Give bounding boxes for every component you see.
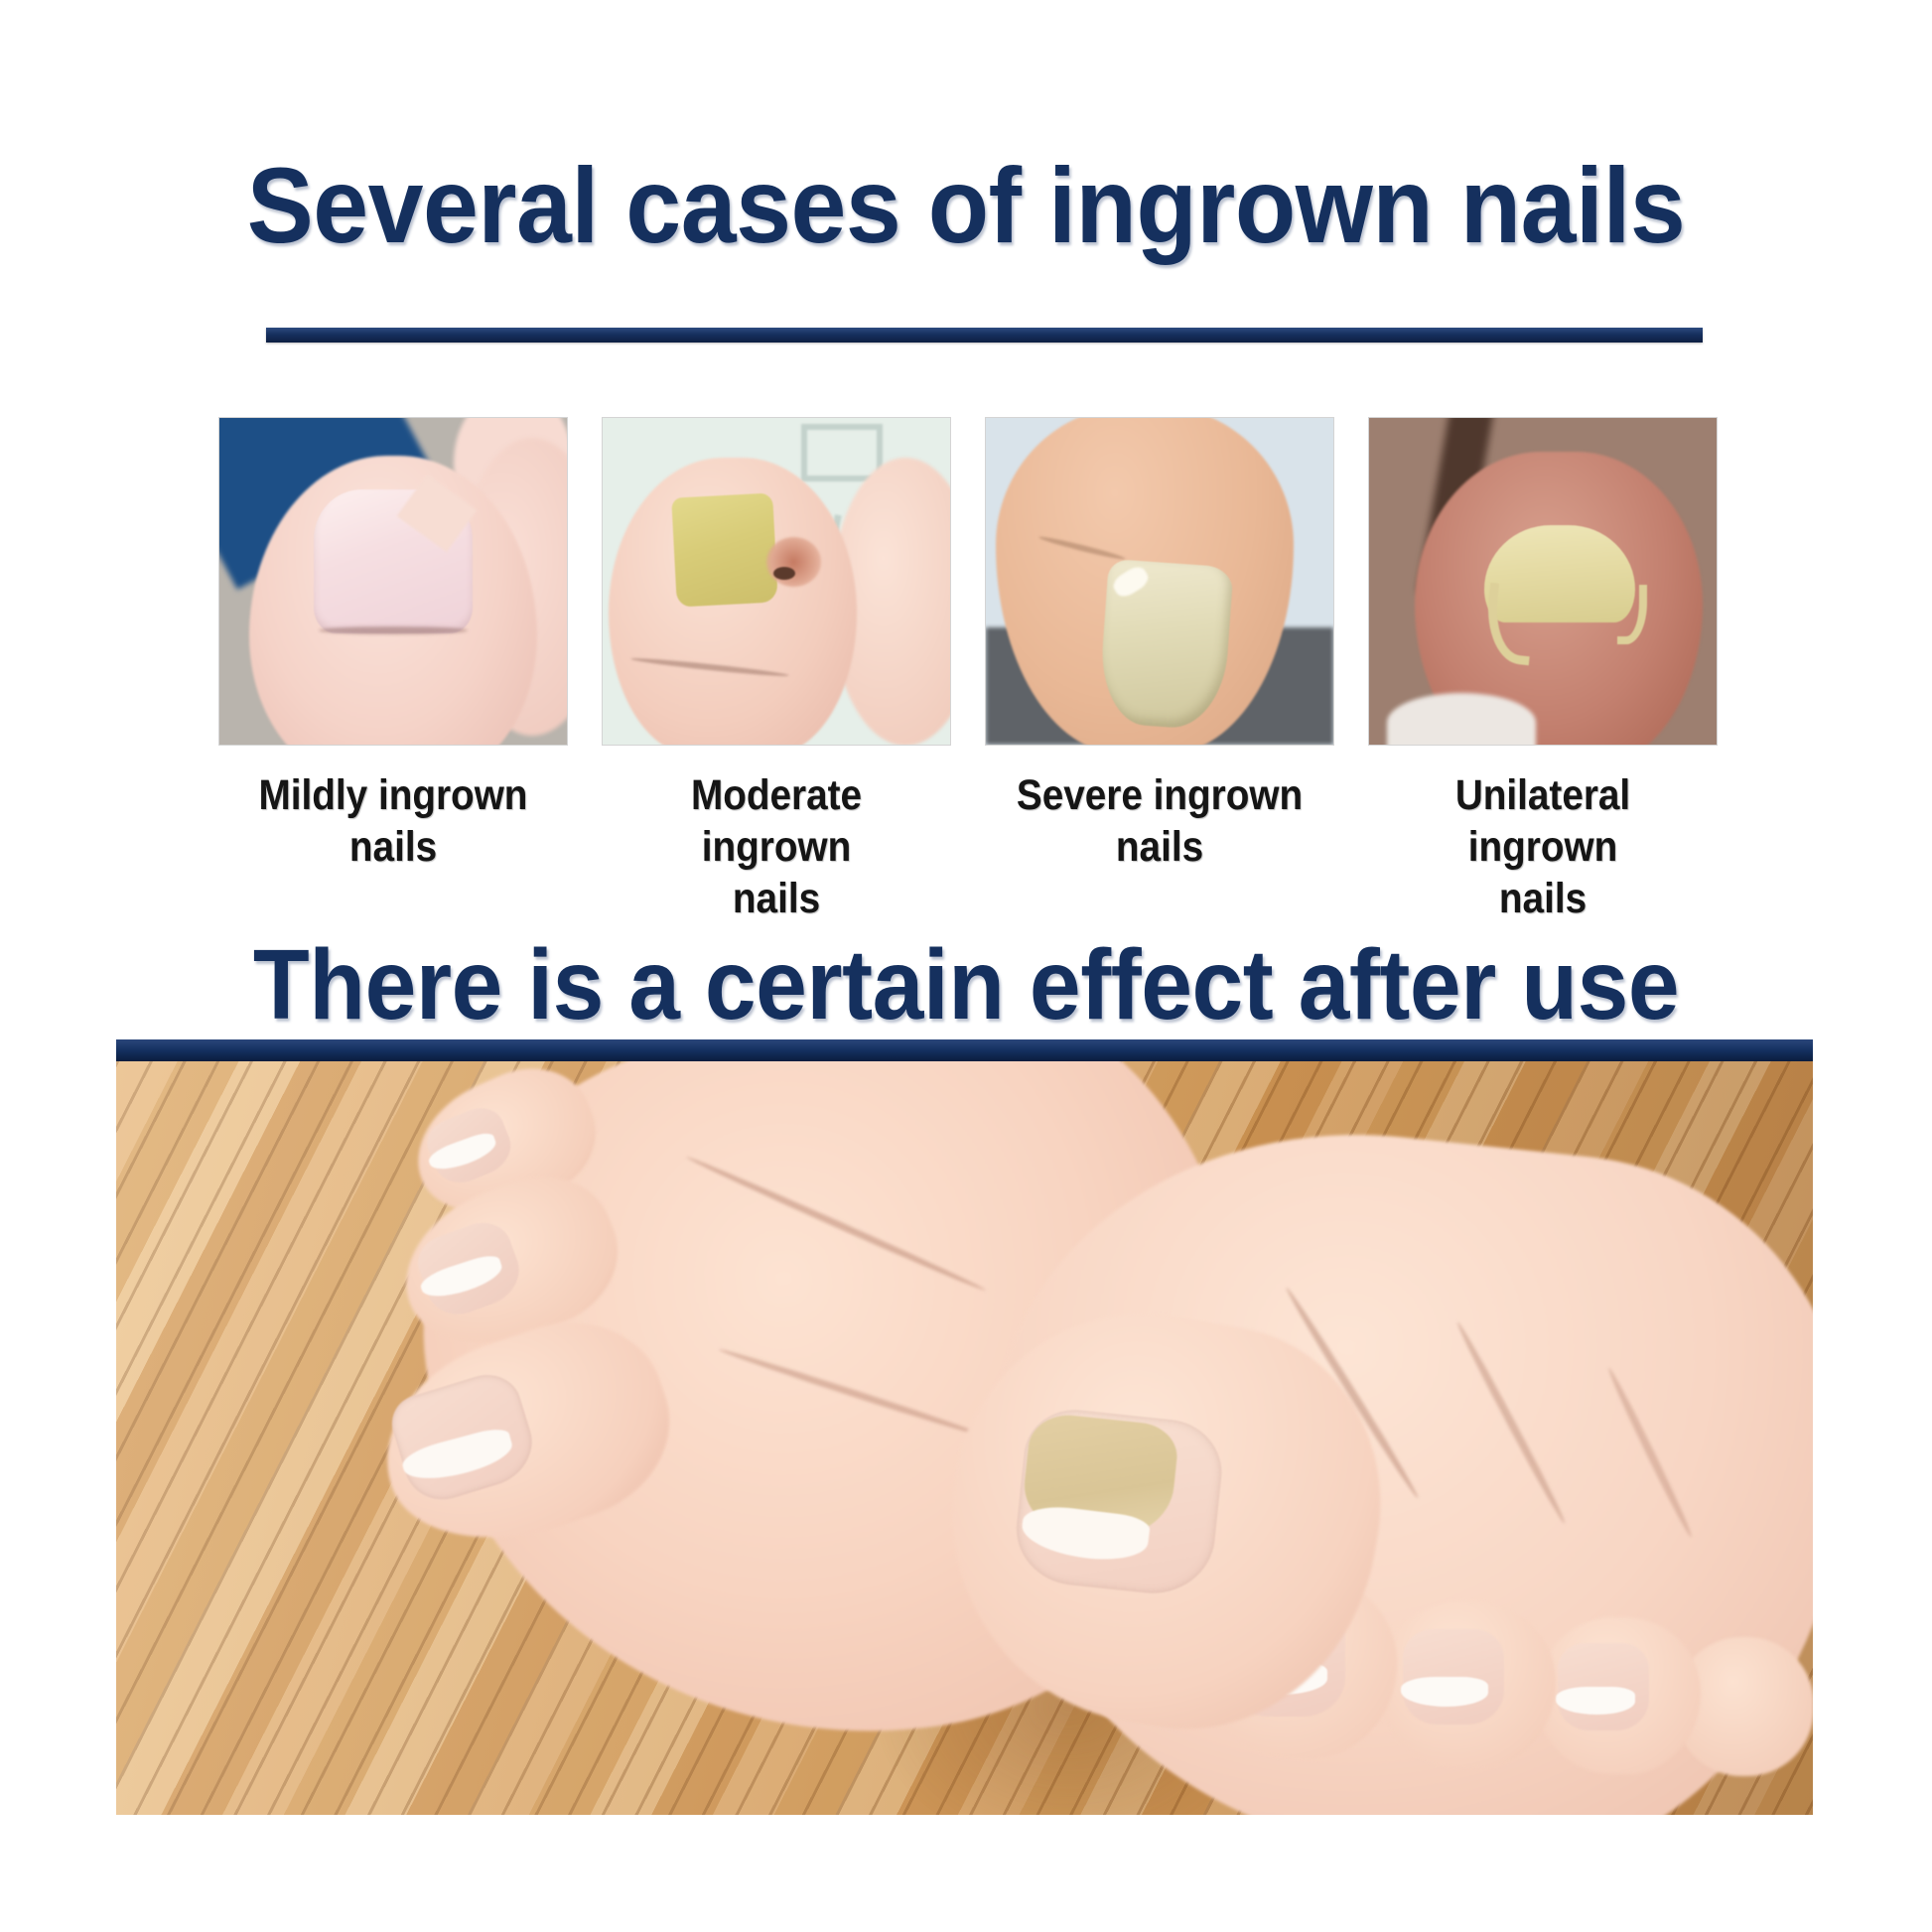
caption-line-2: nails bbox=[349, 823, 437, 871]
caption-line-2: nails bbox=[1116, 823, 1203, 871]
caption-line-2: nails bbox=[1499, 875, 1587, 922]
case-caption-moderate-ingrown: Moderate ingrown nails bbox=[621, 769, 933, 924]
photo-unilateral-ingrown-nail bbox=[1369, 418, 1717, 745]
case-image-severe-ingrown[interactable] bbox=[986, 418, 1333, 745]
title-divider-rule bbox=[266, 328, 1703, 343]
caption-line-1: Unilateral ingrown bbox=[1455, 771, 1630, 871]
case-thumbnail-row bbox=[219, 418, 1717, 745]
caption-line-1: Mildly ingrown bbox=[259, 771, 528, 819]
case-caption-mildly-ingrown: Mildly ingrown nails bbox=[237, 769, 550, 924]
caption-line-1: Moderate ingrown bbox=[691, 771, 862, 871]
page-title-after-use: There is a certain effect after use bbox=[68, 929, 1864, 1040]
result-photo-healthy-feet[interactable] bbox=[116, 1061, 1813, 1815]
photo-mildly-ingrown-nail bbox=[219, 418, 567, 745]
case-image-unilateral-ingrown[interactable] bbox=[1369, 418, 1717, 745]
case-caption-severe-ingrown: Severe ingrown nails bbox=[1004, 769, 1316, 924]
photo-severe-ingrown-nail bbox=[986, 418, 1333, 745]
caption-line-1: Severe ingrown bbox=[1017, 771, 1303, 819]
case-image-mildly-ingrown[interactable] bbox=[219, 418, 567, 745]
promo-page: Several cases of ingrown nails bbox=[0, 0, 1932, 1932]
caption-line-2: nails bbox=[733, 875, 820, 922]
right-foot-toenail-3-tip bbox=[1401, 1677, 1488, 1707]
right-foot-toenail-4-tip bbox=[1556, 1687, 1635, 1715]
case-caption-row: Mildly ingrown nails Moderate ingrown na… bbox=[219, 769, 1717, 924]
page-title-cases: Several cases of ingrown nails bbox=[68, 147, 1864, 264]
photo-moderate-ingrown-nail bbox=[603, 418, 950, 745]
case-caption-unilateral-ingrown: Unilateral ingrown nails bbox=[1387, 769, 1700, 924]
result-divider-rule bbox=[116, 1039, 1813, 1061]
case-image-moderate-ingrown[interactable] bbox=[603, 418, 950, 745]
